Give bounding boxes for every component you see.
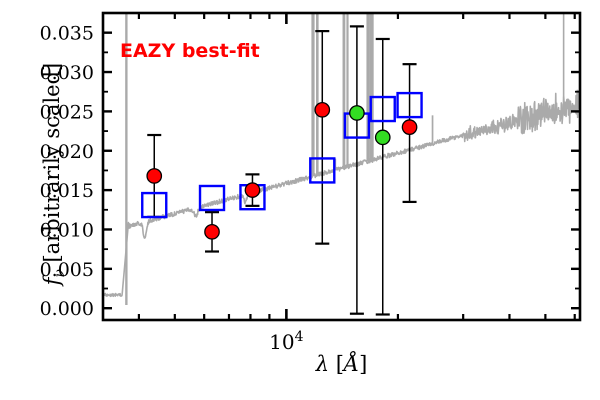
photometry-point [205,225,219,239]
photometry-point [245,183,259,197]
eazy-best-fit-annotation: EAZY best-fit [120,40,260,62]
x-tick-label: 104 [269,329,303,354]
y-axis-label: fν [arbitrarily scaled] [40,24,68,324]
sed-plot: 1040.0000.0050.0100.0150.0200.0250.0300.… [0,0,600,400]
figure-canvas: 1040.0000.0050.0100.0150.0200.0250.0300.… [0,0,600,400]
photometry-point [350,106,364,120]
photometry-point [402,120,416,134]
photometry-point [376,130,390,144]
photometry-point [315,103,329,117]
x-axis-label: λ [Å] [103,352,580,376]
photometry-point [147,169,161,183]
